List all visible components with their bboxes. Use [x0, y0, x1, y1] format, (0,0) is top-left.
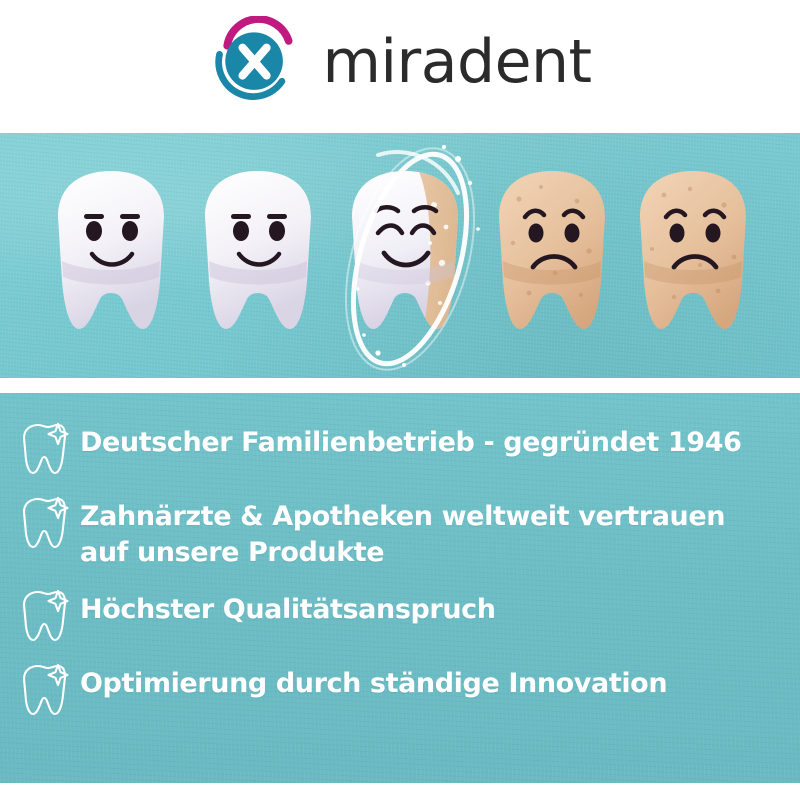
feature-text-3: Höchster Qualitätsanspruch — [80, 586, 496, 628]
feature-line-2: auf unsere Produkte — [80, 535, 725, 571]
tooth-sparkle-icon — [18, 495, 70, 551]
brand-header: miradent — [0, 0, 800, 133]
feature-text-1: Deutscher Familienbetrieb - gegründet 19… — [80, 419, 741, 461]
tooth-5-stained-sad — [630, 165, 756, 337]
miradent-x-circle-logo-icon — [208, 16, 304, 112]
brand-logo[interactable]: miradent — [208, 16, 591, 112]
tooth-4-stained-sad — [489, 165, 615, 337]
feature-text-4: Optimierung durch ständige Innovation — [80, 660, 667, 702]
feature-line-1: Optimierung durch ständige Innovation — [80, 668, 667, 699]
tooth-1-white-smiling — [48, 165, 174, 337]
feature-item-4: Optimierung durch ständige Innovation — [18, 660, 782, 718]
feature-list: Deutscher Familienbetrieb - gegründet 19… — [18, 419, 782, 718]
teeth-row — [0, 133, 800, 378]
feature-text-2: Zahnärzte & Apotheken weltweit vertrauen… — [80, 493, 725, 570]
hero-photo — [0, 133, 800, 378]
tooth-3-half-cleaned-smiling — [342, 165, 468, 337]
feature-item-1: Deutscher Familienbetrieb - gegründet 19… — [18, 419, 782, 477]
feature-line-1: Deutscher Familienbetrieb - gegründet 19… — [80, 427, 741, 458]
tooth-sparkle-icon — [18, 662, 70, 718]
tooth-sparkle-icon — [18, 588, 70, 644]
feature-line-1: Höchster Qualitätsanspruch — [80, 594, 496, 625]
feature-item-2: Zahnärzte & Apotheken weltweit vertrauen… — [18, 493, 782, 570]
tooth-sparkle-icon — [18, 421, 70, 477]
feature-item-3: Höchster Qualitätsanspruch — [18, 586, 782, 644]
footer-strip — [0, 783, 800, 800]
brand-wordmark: miradent — [322, 32, 591, 96]
feature-line-1: Zahnärzte & Apotheken weltweit vertrauen — [80, 501, 725, 532]
band-divider — [0, 378, 800, 393]
tooth-2-white-smiling — [195, 165, 321, 337]
feature-band: Deutscher Familienbetrieb - gegründet 19… — [0, 393, 800, 783]
